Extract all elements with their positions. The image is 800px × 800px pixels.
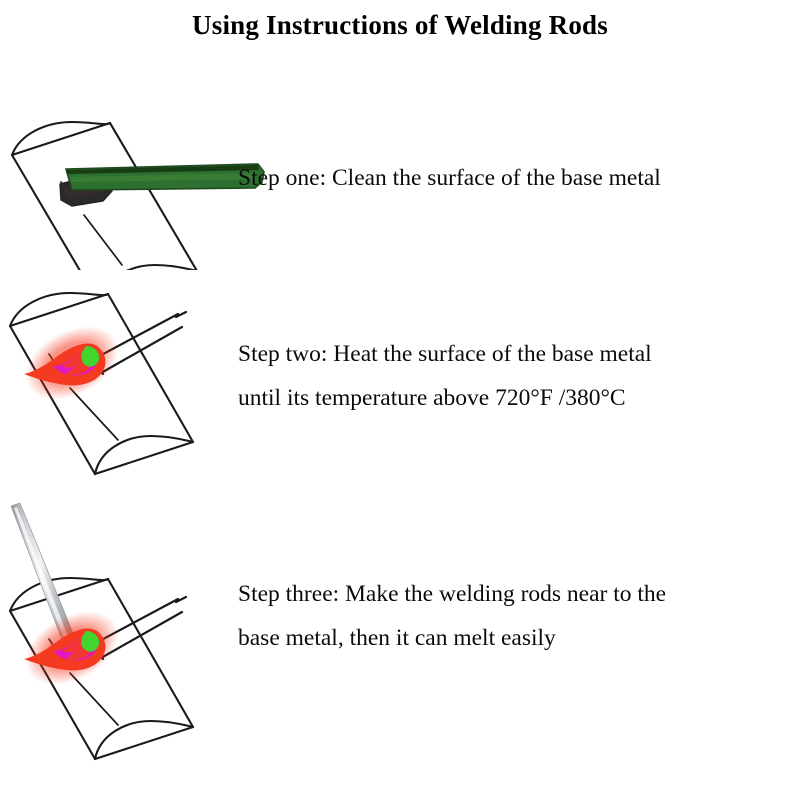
wire-brush-icon <box>60 164 264 206</box>
step-one-line-1: Step one: Clean the surface of the base … <box>238 156 661 200</box>
step-three-text: Step three: Make the welding rods near t… <box>238 572 666 660</box>
step-three-line-1: Step three: Make the welding rods near t… <box>238 572 666 616</box>
step-one-text: Step one: Clean the surface of the base … <box>238 156 661 200</box>
step-two-line-1: Step two: Heat the surface of the base m… <box>238 332 652 376</box>
step-row-three: Step three: Make the welding rods near t… <box>0 500 800 800</box>
step-two-line-2: until its temperature above 720°F /380°C <box>238 376 652 420</box>
step-row-two: Step two: Heat the surface of the base m… <box>0 290 800 500</box>
step-row-one: Step one: Clean the surface of the base … <box>0 60 800 270</box>
step-three-line-2: base metal, then it can melt easily <box>238 616 666 660</box>
torch-flame-icon <box>13 311 131 414</box>
torch-flame-icon <box>13 596 131 699</box>
instruction-sheet: Using Instructions of Welding Rods <box>0 0 800 800</box>
page-title: Using Instructions of Welding Rods <box>0 10 800 41</box>
step-two-text: Step two: Heat the surface of the base m… <box>238 332 652 420</box>
